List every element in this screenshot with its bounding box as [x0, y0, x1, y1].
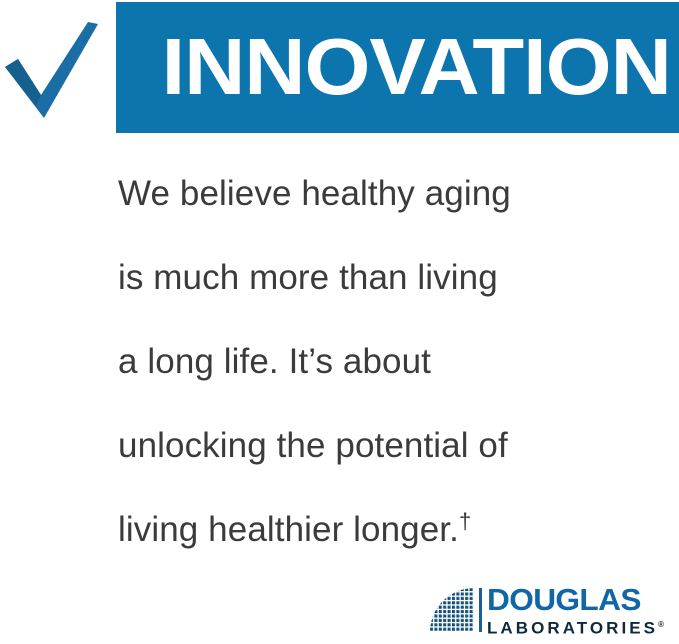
banner-title: INNOVATION: [116, 27, 671, 107]
footnote-dagger-symbol: †: [459, 508, 471, 533]
logo-secondary-text: LABORATORIES®: [487, 615, 664, 639]
brand-logo: DOUGLAS LABORATORIES®: [430, 586, 673, 634]
copy-line-2: is much more than living: [118, 236, 663, 320]
blue-checkmark-icon: [2, 18, 102, 122]
registered-trademark-icon: ®: [658, 620, 664, 629]
douglas-halftone-globe-mark: [430, 588, 474, 632]
logo-wordmark: DOUGLAS LABORATORIES®: [487, 586, 664, 639]
copy-line-5: living healthier longer.†: [118, 488, 663, 572]
logo-divider: [479, 588, 482, 632]
logo-secondary-label: LABORATORIES: [487, 619, 658, 638]
copy-line-4: unlocking the potential of: [118, 404, 663, 488]
copy-line-5-text: living healthier longer.: [118, 510, 459, 549]
copy-line-3: a long life. It’s about: [118, 320, 663, 404]
innovation-banner: INNOVATION: [116, 2, 679, 133]
copy-line-1: We believe healthy aging: [118, 152, 663, 236]
header-row: INNOVATION: [0, 0, 679, 136]
body-copy: We believe healthy aging is much more th…: [118, 152, 663, 572]
logo-primary-text: DOUGLAS: [487, 586, 667, 614]
